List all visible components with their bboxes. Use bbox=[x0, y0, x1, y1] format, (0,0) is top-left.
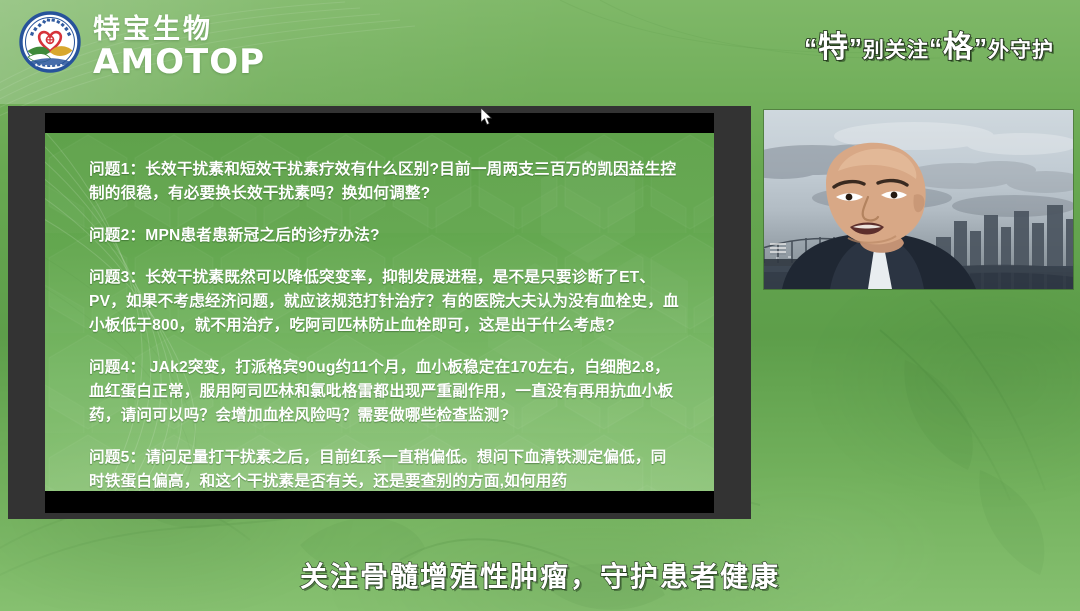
letterbox-bottom bbox=[45, 491, 714, 513]
shared-screen-frame[interactable]: 问题1：长效干扰素和短效干扰素疗效有什么区别?目前一周两支三百万的凯因益生控制的… bbox=[8, 106, 751, 519]
title-quote-open-1: “ bbox=[804, 33, 818, 63]
question-item-3: 问题3：长效干扰素既然可以降低突变率，抑制发展进程，是不是只要诊断了ET、PV，… bbox=[89, 266, 679, 338]
letterbox-top bbox=[45, 113, 714, 133]
brand-name-cn: 特宝生物 bbox=[93, 14, 303, 44]
slide-canvas[interactable]: 问题1：长效干扰素和短效干扰素疗效有什么区别?目前一周两支三百万的凯因益生控制的… bbox=[45, 133, 714, 491]
brand-wordmark: 特宝生物 AMOTOP bbox=[93, 14, 303, 86]
speaker-portrait bbox=[764, 139, 1073, 289]
question-item-2: 问题2：MPN患者患新冠之后的诊疗办法? bbox=[89, 224, 679, 248]
program-title: “特”别关注“格”外守护 bbox=[804, 22, 1054, 66]
question-list: 问题1：长效干扰素和短效干扰素疗效有什么区别?目前一周两支三百万的凯因益生控制的… bbox=[89, 158, 679, 491]
title-quote-close-1: ” bbox=[849, 33, 863, 63]
title-part-2: 别关注 bbox=[863, 39, 929, 62]
bottom-caption: 关注骨髓增殖性肿瘤，守护患者健康 bbox=[0, 555, 1080, 595]
question-item-4: 问题4： JAk2突变，打派格宾90ug约11个月，血小板稳定在170左右，白细… bbox=[89, 356, 679, 428]
title-part-1: 特 bbox=[818, 31, 849, 64]
question-item-5: 问题5：请问足量打干扰素之后，目前红系一直稍偏低。想问下血清铁测定偏低，同时铁蛋… bbox=[89, 446, 679, 491]
speaker-video-tile[interactable] bbox=[764, 110, 1073, 289]
mouse-pointer-icon bbox=[481, 108, 493, 126]
title-part-4: 外守护 bbox=[988, 39, 1054, 62]
amotop-circular-emblem-icon bbox=[19, 11, 81, 73]
title-quote-open-2: “ bbox=[929, 33, 943, 63]
video-watermark bbox=[770, 243, 786, 255]
question-item-1: 问题1：长效干扰素和短效干扰素疗效有什么区别?目前一周两支三百万的凯因益生控制的… bbox=[89, 158, 679, 206]
broadcast-stage: 特宝生物 AMOTOP “特”别关注“格”外守护 bbox=[0, 0, 1080, 611]
bottom-caption-text: 关注骨髓增殖性肿瘤，守护患者健康 bbox=[300, 561, 780, 592]
title-quote-close-2: ” bbox=[974, 33, 988, 63]
title-part-3: 格 bbox=[943, 31, 974, 64]
program-header: 特宝生物 AMOTOP “特”别关注“格”外守护 bbox=[0, 0, 1080, 104]
brand-name-latin: AMOTOP bbox=[93, 43, 303, 81]
